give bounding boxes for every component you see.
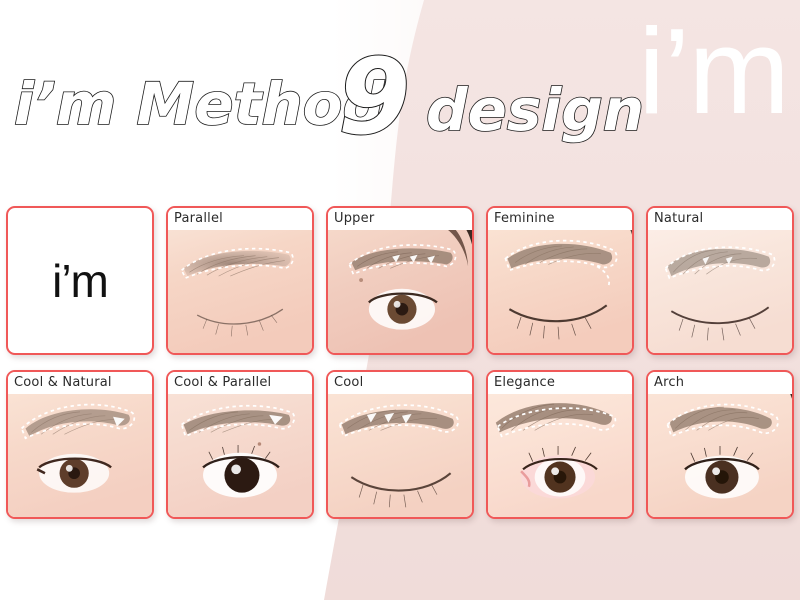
card-label: Cool bbox=[328, 372, 472, 394]
card-label: Arch bbox=[648, 372, 792, 394]
card-elegance[interactable]: Elegance bbox=[486, 370, 634, 519]
card-label: Elegance bbox=[488, 372, 632, 394]
title-number: 9 bbox=[338, 36, 410, 158]
card-row-bottom: Cool & Natural bbox=[6, 370, 796, 519]
card-arch[interactable]: Arch bbox=[646, 370, 794, 519]
card-label: Natural bbox=[648, 208, 792, 230]
card-feminine[interactable]: Feminine bbox=[486, 206, 634, 355]
card-label: Parallel bbox=[168, 208, 312, 230]
brand-watermark: i’m bbox=[638, 10, 788, 132]
card-label: Cool & Parallel bbox=[168, 372, 312, 394]
card-label: Upper bbox=[328, 208, 472, 230]
card-label: Cool & Natural bbox=[8, 372, 152, 394]
card-cool-parallel[interactable]: Cool & Parallel bbox=[166, 370, 314, 519]
card-upper[interactable]: Upper bbox=[326, 206, 474, 355]
card-cool-natural[interactable]: Cool & Natural bbox=[6, 370, 154, 519]
brand-logo-text: i’m bbox=[52, 254, 108, 308]
card-label: Feminine bbox=[488, 208, 632, 230]
title-trail: design bbox=[426, 76, 644, 144]
design-card-grid: i’m bbox=[6, 206, 796, 519]
title-lead: i’m Method bbox=[14, 70, 384, 138]
card-row-top: i’m bbox=[6, 206, 796, 355]
card-brand-logo[interactable]: i’m bbox=[6, 206, 154, 355]
card-parallel[interactable]: Parallel bbox=[166, 206, 314, 355]
page-title: i’m Method 9 design bbox=[8, 28, 648, 148]
card-natural[interactable]: Natural bbox=[646, 206, 794, 355]
card-cool[interactable]: Cool bbox=[326, 370, 474, 519]
